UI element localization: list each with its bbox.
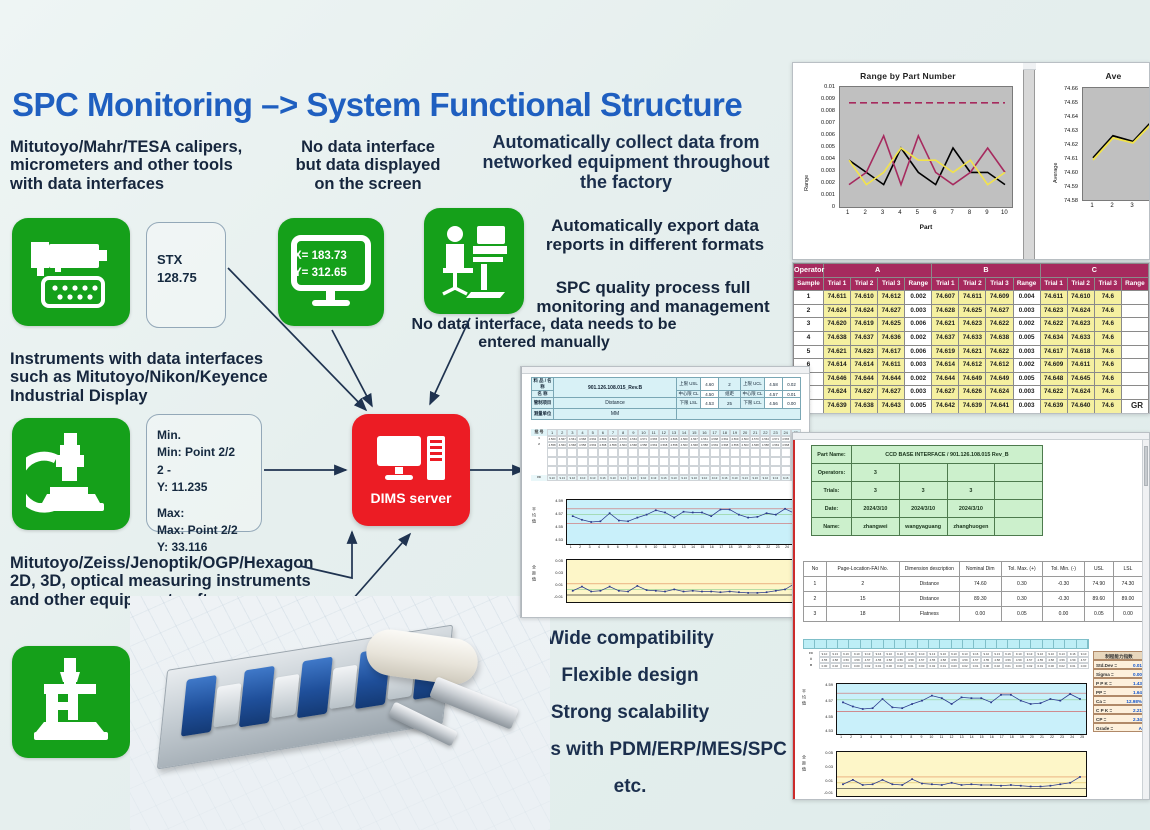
sample-no: 3: [794, 318, 824, 332]
range-chart-xlabel: Part: [839, 224, 1013, 231]
axis-tick: 13: [679, 545, 688, 549]
dim-cell: Distance: [899, 577, 959, 592]
measurement-cell: 74.622: [1040, 386, 1067, 400]
ruler-tick: [861, 640, 872, 648]
mid-ucl-k: 上限 UCL: [741, 378, 765, 391]
minmax-readout-box: Min. Min: Point 2/2 2 - Y: 11.235 Max: M…: [146, 414, 262, 532]
capability-key: P P K =: [1096, 679, 1112, 686]
grid-cell: [781, 466, 791, 475]
dim-column-header: Nominal Dim: [959, 562, 1001, 577]
grid-cell: [710, 466, 720, 475]
capability-key: Grade =: [1096, 724, 1113, 731]
measurement-cell: [1121, 304, 1148, 318]
dim-column-header: Page-Location-FAI No.: [826, 562, 899, 577]
dim-cell: -0.30: [1043, 592, 1085, 607]
br-r-chart: 全距值 0.05 0.03 0.01 -0.01: [801, 751, 1087, 800]
capability-row: P P K =1.43: [1093, 678, 1145, 687]
grid-cell: 21: [750, 429, 760, 436]
table-row: 274.62474.62474.6270.00374.62874.62574.6…: [794, 304, 1149, 318]
dim-cell: Flatness: [899, 607, 959, 622]
ruler-tick: [884, 640, 895, 648]
grid-cell: 2: [557, 429, 567, 436]
mid-r-cl: 0.01: [783, 391, 801, 398]
measurement-cell: 74.627: [878, 304, 905, 318]
grid-cell: [750, 448, 760, 457]
measurement-cell: 0.003: [1013, 304, 1040, 318]
measurement-cell: 74.627: [851, 386, 878, 400]
grid-cell: 0.02: [862, 663, 873, 669]
grid-cell: [740, 448, 750, 457]
axis-tick: 24: [1067, 735, 1077, 739]
grid-cell: [710, 457, 720, 466]
mid-part-no: 901.126.108.015_Rev.B: [554, 378, 677, 398]
ruler-tick: [827, 640, 838, 648]
grid-cell: 0.00: [1078, 663, 1089, 669]
br-xbar-axis-label: 平均值: [801, 689, 807, 707]
measurement-cell: 74.634: [1040, 331, 1067, 345]
grid-cell: 19: [730, 429, 740, 436]
gage-rr-data-table: OperatorABCSampleTrial 1Trial 2Trial 3Ra…: [793, 263, 1149, 414]
measurement-cell: 74.618: [1067, 345, 1094, 359]
grid-cell: [649, 466, 659, 475]
grid-row-label: 批 号: [531, 429, 547, 436]
grid-row-label: R: [803, 663, 819, 669]
measurement-cell: 74.622: [986, 345, 1013, 359]
ccd-label: Name:: [812, 518, 852, 536]
measurement-cell: 74.622: [986, 318, 1013, 332]
spc-control-chart-document: 料 品 / 名 称 901.126.108.015_Rev.B 上限 USL 4…: [520, 366, 810, 618]
ccd-label: Operators:: [812, 464, 852, 482]
grid-cell: [659, 466, 669, 475]
grid-row-label: [531, 466, 547, 475]
grid-row-label: [531, 457, 547, 466]
grid-cell: [689, 466, 699, 475]
measurement-cell: 74.627: [932, 386, 959, 400]
measurement-cell: 0.002: [1013, 359, 1040, 373]
measurement-cell: 74.644: [932, 372, 959, 386]
measurement-cell: 74.609: [1040, 359, 1067, 373]
grid-cell: 9.13: [618, 475, 628, 481]
measurement-cell: 74.612: [986, 359, 1013, 373]
grid-cell: 0.01: [938, 663, 949, 669]
axis-tick: 19: [1017, 735, 1027, 739]
capability-key: PP =: [1096, 688, 1106, 695]
capability-key: CP =: [1096, 715, 1106, 722]
measurement-cell: 74.6: [1094, 359, 1121, 373]
measurement-cell: 74.617: [878, 345, 905, 359]
grid-cell: [720, 457, 730, 466]
capability-row: Grade =A: [1093, 723, 1145, 732]
grid-cell: 9.10: [608, 475, 618, 481]
average-chart-yticks: 74.66 74.65 74.64 74.63 74.62 74.61 74.6…: [1044, 89, 1080, 201]
grid-cell: [770, 448, 780, 457]
measurement-cell: 74.639: [1040, 399, 1067, 413]
grid-cell: 0.02: [992, 663, 1003, 669]
measurement-cell: 74.638: [824, 331, 851, 345]
grid-cell: [557, 448, 567, 457]
dim-cell: 0.00: [1113, 607, 1142, 622]
grid-cell: [577, 466, 587, 475]
grid-cell: 9.16: [659, 475, 669, 481]
ccd-label: Trials:: [812, 482, 852, 500]
dim-cell: 0.00: [1043, 607, 1085, 622]
dim-cell: -0.30: [1043, 577, 1085, 592]
grid-cell: [740, 457, 750, 466]
measurement-cell: 74.638: [986, 331, 1013, 345]
axis-tick: 4: [866, 735, 876, 739]
cmm-machine-icon: [26, 656, 116, 748]
grid-cell: [781, 457, 791, 466]
measurement-cell: 74.644: [851, 372, 878, 386]
infographic-canvas: SPC Monitoring –> System Functional Stru…: [0, 0, 1150, 830]
ccd-value: 2024/3/10: [947, 500, 995, 518]
measurement-cell: 74.649: [986, 372, 1013, 386]
ccd-value: 3: [947, 482, 995, 500]
microscope-icon-tile: [12, 418, 130, 530]
grid-row-label: ΣX: [531, 475, 547, 481]
grid-cell: 17: [710, 429, 720, 436]
grid-cell: [699, 466, 709, 475]
operator-header: C: [1040, 264, 1148, 278]
capability-row: Sigma =0.00: [1093, 669, 1145, 678]
table-row: 574.62174.62374.6170.00674.61974.62174.6…: [794, 345, 1149, 359]
mid-doc-sample-grid: 批 号1234567891011121314151617181920212223…: [531, 429, 801, 481]
grid-cell: 0.01: [1035, 663, 1046, 669]
ccd-row: Date:2024/3/102024/3/102024/3/10: [812, 500, 1043, 518]
max-title: Max:: [157, 505, 261, 522]
grid-cell: 7: [608, 429, 618, 436]
axis-tick: 11: [660, 545, 669, 549]
mid-lcl-v: 4.56: [765, 398, 783, 409]
mid-lsl-k: 下限 LSL: [677, 398, 701, 409]
column-header: Trial 3: [1094, 277, 1121, 291]
grid-cell: 0.02: [1057, 663, 1068, 669]
measurement-cell: 74.617: [932, 413, 959, 414]
measurement-cell: 74.639: [959, 399, 986, 413]
grid-cell: 1: [547, 429, 557, 436]
dim-cell: 2: [804, 592, 827, 607]
measurement-cell: 74.610: [851, 291, 878, 305]
grid-cell: 9.16: [628, 475, 638, 481]
mid-ucl-v: 4.58: [765, 378, 783, 391]
grid-cell: [588, 457, 598, 466]
ruler-tick: [986, 640, 997, 648]
ruler-tick: [1054, 640, 1065, 648]
grid-cell: [679, 466, 689, 475]
grid-cell: 11: [649, 429, 659, 436]
ccd-row: Part Name:CCD BASE INTERFACE / 901.126.1…: [812, 446, 1043, 464]
axis-tick: 22: [764, 545, 773, 549]
grid-cell: [730, 448, 740, 457]
axis-tick: 13: [957, 735, 967, 739]
range-chart-plot: [839, 86, 1013, 208]
mid-cl-v: 4.50: [701, 391, 719, 398]
grid-cell: [750, 457, 760, 466]
range-chart-title: Range by Part Number: [793, 63, 1023, 81]
grid-cell: [608, 448, 618, 457]
grid-cell: [567, 466, 577, 475]
dim-cell: 0.00: [959, 607, 1001, 622]
measurement-cell: 74.612: [878, 291, 905, 305]
grid-cell: 0.00: [916, 663, 927, 669]
measurement-cell: [1121, 413, 1148, 414]
axis-tick: 19: [735, 545, 744, 549]
mid-sample-size: 2: [719, 378, 741, 391]
min-title: Min.: [157, 427, 261, 444]
mid-cl-k: 中心限 CL: [677, 391, 701, 398]
column-header: Trial 3: [878, 277, 905, 291]
grid-cell: [588, 448, 598, 457]
ccd-label: Date:: [812, 500, 852, 518]
measurement-cell: 74.611: [1040, 291, 1067, 305]
grid-cell: 0.01: [1067, 663, 1078, 669]
measurement-cell: 74.621: [959, 345, 986, 359]
grid-cell: 9.16: [567, 475, 577, 481]
grid-cell: 12: [659, 429, 669, 436]
ruler-tick: [815, 640, 826, 648]
grid-cell: [689, 448, 699, 457]
dim-cell: 1: [804, 577, 827, 592]
column-header: Trial 1: [824, 277, 851, 291]
measurement-cell: [1121, 331, 1148, 345]
dimension-table: NoPage-Location-FAI No.Dimension descrip…: [803, 561, 1143, 622]
dim-row: 215Distance89.300.30-0.3089.6089.00: [804, 592, 1143, 607]
dim-column-header: LSL: [1113, 562, 1142, 577]
measurement-cell: 74.607: [932, 291, 959, 305]
grid-cell: [598, 448, 608, 457]
grid-cell: [659, 457, 669, 466]
column-header: Range: [905, 277, 932, 291]
measurement-cell: 74.619: [959, 413, 986, 414]
column-header: Range: [1013, 277, 1040, 291]
measurement-cell: 0.003: [905, 304, 932, 318]
grid-cell: 10: [638, 429, 648, 436]
capability-row: CP =2.34: [1093, 714, 1145, 723]
axis-tick: 21: [1037, 735, 1047, 739]
stx-label: STX: [157, 251, 225, 269]
measurement-cell: 0.005: [1013, 372, 1040, 386]
axis-tick: 1: [836, 735, 846, 739]
capability-key: C P K =: [1096, 706, 1112, 713]
column-header: Trial 2: [959, 277, 986, 291]
capability-row: Ca =12.98%: [1093, 696, 1145, 705]
axis-tick: 2: [575, 545, 584, 549]
measurement-cell: 74.643: [878, 399, 905, 413]
ccd-value: [995, 518, 1043, 536]
measurement-cell: 0.003: [1013, 399, 1040, 413]
dim-cell: 2: [826, 577, 899, 592]
grid-cell: [557, 457, 567, 466]
grid-cell: 0.00: [851, 663, 862, 669]
capability-value: 0.00: [1133, 670, 1142, 677]
measurement-cell: 74.617: [851, 413, 878, 414]
measurement-cell: 74.6: [1094, 304, 1121, 318]
measurement-cell: 74.624: [1067, 386, 1094, 400]
grid-cell: [618, 457, 628, 466]
measurement-cell: 74.624: [1067, 304, 1094, 318]
axis-tick: 3: [585, 545, 594, 549]
capability-value: 2.21: [1133, 706, 1142, 713]
dim-cell: 18: [826, 607, 899, 622]
mid-r-axis-label: 全距值: [531, 565, 537, 583]
sample-no: 5: [794, 345, 824, 359]
ruler-tick: [1043, 640, 1054, 648]
ccd-value: [995, 482, 1043, 500]
measurement-cell: 74.623: [1040, 304, 1067, 318]
measurement-cell: 0.004: [1013, 291, 1040, 305]
ccd-value: [995, 500, 1043, 518]
ruler-tick: [895, 640, 906, 648]
grid-cell: 0.02: [959, 663, 970, 669]
measurement-cell: [1121, 359, 1148, 373]
spc-report-document: Part Name:CCD BASE INTERFACE / 901.126.1…: [792, 432, 1150, 800]
measurement-cell: [1121, 318, 1148, 332]
grid-cell: 9.13: [588, 475, 598, 481]
br-ruler-strip: [803, 639, 1089, 649]
axis-tick: 10: [651, 545, 660, 549]
table-row: 374.62074.61974.6250.00674.62174.62374.6…: [794, 318, 1149, 332]
column-header: Range: [1121, 277, 1148, 291]
measurement-cell: 74.611: [959, 291, 986, 305]
ruler-tick: [872, 640, 883, 648]
axis-tick: 22: [1047, 735, 1057, 739]
measurement-cell: 74.6: [1094, 399, 1121, 413]
measurement-cell: 74.627: [878, 386, 905, 400]
grid-cell: 9.10: [760, 475, 770, 481]
table-corner: Operator: [794, 264, 824, 278]
range-chart-yticks: 0.01 0.009 0.008 0.007 0.006 0.005 0.004…: [803, 87, 837, 207]
ccd-value: zhangwei: [852, 518, 900, 536]
average-chart-xticks: 1 2 3 4: [1082, 203, 1150, 209]
measurement-cell: 0.003: [905, 413, 932, 414]
ccd-row: Operators:3: [812, 464, 1043, 482]
grid-cell: [710, 448, 720, 457]
measurement-cell: 74.623: [1067, 318, 1094, 332]
table-row: 874.62474.62774.6270.00374.62774.62674.6…: [794, 386, 1149, 400]
grid-cell: [598, 457, 608, 466]
dim-cell: 74.60: [959, 577, 1001, 592]
grid-cell: [577, 457, 587, 466]
axis-tick: 2: [846, 735, 856, 739]
grid-cell: [618, 466, 628, 475]
server-icon: [375, 434, 447, 486]
caliper-icon-tile: [12, 218, 130, 326]
grid-cell: [669, 448, 679, 457]
ruler-tick: [952, 640, 963, 648]
mid-doc-header-strip: [521, 367, 809, 374]
grid-cell: 0.02: [927, 663, 938, 669]
axis-tick: 12: [669, 545, 678, 549]
grid-cell: [669, 457, 679, 466]
grid-cell: 0.00: [819, 663, 830, 669]
vertical-scrollbar[interactable]: [1142, 440, 1149, 799]
ccd-base-interface-table: Part Name:CCD BASE INTERFACE / 901.126.1…: [811, 445, 1043, 536]
grid-cell: [730, 457, 740, 466]
axis-tick: 14: [688, 545, 697, 549]
ruler-tick: [849, 640, 860, 648]
measurement-cell: 74.614: [824, 359, 851, 373]
grid-row-label: [531, 448, 547, 457]
ccd-row: Name:zhangweiwangyaguangzhanghuogen: [812, 518, 1043, 536]
grid-cell: 0.01: [970, 663, 981, 669]
axis-tick: 5: [604, 545, 613, 549]
measurement-cell: [1121, 386, 1148, 400]
ruler-tick: [974, 640, 985, 648]
operator-workstation-icon: [433, 220, 515, 302]
table-row: 674.61474.61474.6110.00374.61474.61274.6…: [794, 359, 1149, 373]
measurement-cell: 0.002: [905, 331, 932, 345]
grid-cell: 0.01: [905, 663, 916, 669]
blurb-manual-entry: No data interface, data needs to be ente…: [394, 316, 694, 352]
capability-key: Sigma =: [1096, 670, 1114, 677]
axis-tick: 7: [622, 545, 631, 549]
scrollbar-thumb[interactable]: [1144, 446, 1148, 486]
measurement-cell: 74.611: [878, 359, 905, 373]
dim-cell: 0.05: [1001, 607, 1043, 622]
sample-header: Sample: [794, 277, 824, 291]
blurb-no-data-interface: No data interface but data displayed on …: [288, 138, 448, 193]
mid-n: 25: [719, 398, 741, 409]
axis-tick: 9: [641, 545, 650, 549]
table-row: 474.63874.63774.6360.00274.63774.63374.6…: [794, 331, 1149, 345]
br-r-axis-label: 全距值: [801, 755, 807, 773]
axis-tick: 6: [613, 545, 622, 549]
axis-tick: 9: [916, 735, 926, 739]
operator-header: B: [932, 264, 1040, 278]
capability-row: C P K =2.21: [1093, 705, 1145, 714]
measurement-cell: 0.005: [1013, 331, 1040, 345]
measurement-cell: 74.627: [986, 304, 1013, 318]
column-header: Trial 1: [932, 277, 959, 291]
dim-cell: 0.05: [1084, 607, 1113, 622]
measurement-cell: 74.619: [986, 413, 1013, 414]
grid-cell: 0.00: [884, 663, 895, 669]
axis-tick: 20: [745, 545, 754, 549]
measurement-cell: 74.624: [824, 304, 851, 318]
measurement-cell: 0.006: [905, 318, 932, 332]
sample-no: 2: [794, 304, 824, 318]
grid-cell: [567, 457, 577, 466]
table-row: 174.61174.61074.6120.00274.60774.61174.6…: [794, 291, 1149, 305]
axis-tick: 8: [632, 545, 641, 549]
grid-cell: 0.01: [873, 663, 884, 669]
mid-item-label: 管制项目: [532, 398, 554, 409]
grid-cell: [699, 448, 709, 457]
axis-tick: 5: [876, 735, 886, 739]
axis-tick: 21: [754, 545, 763, 549]
range-chart: Range by Part Number Range 0.01 0.009 0.…: [793, 63, 1023, 260]
capability-row: PP =1.64: [1093, 687, 1145, 696]
measurement-cell: 74.633: [959, 331, 986, 345]
min-point: Min: Point 2/2: [157, 444, 261, 461]
axis-tick: 17: [717, 545, 726, 549]
measurement-cell: [1121, 372, 1148, 386]
gage-rr-data-table-panel: OperatorABCSampleTrial 1Trial 2Trial 3Ra…: [792, 262, 1150, 414]
grid-cell: 24: [781, 429, 791, 436]
mid-ccl-v: 4.57: [765, 391, 783, 398]
measurement-cell: 74.617: [824, 413, 851, 414]
blurb-instruments: Instruments with data interfaces such as…: [10, 350, 300, 405]
measurement-cell: 74.645: [1067, 372, 1094, 386]
blurb-calipers: Mitutoyo/Mahr/TESA calipers, micrometers…: [10, 138, 260, 193]
measurement-cell: 74.626: [959, 386, 986, 400]
axis-tick: 4: [594, 545, 603, 549]
measurement-cell: 74.624: [824, 386, 851, 400]
table-row: 974.63974.63874.6430.00574.64274.63974.6…: [794, 399, 1149, 413]
measurement-cell: 74.6: [1094, 386, 1121, 400]
grid-cell: [567, 448, 577, 457]
ruler-tick: [1065, 640, 1076, 648]
